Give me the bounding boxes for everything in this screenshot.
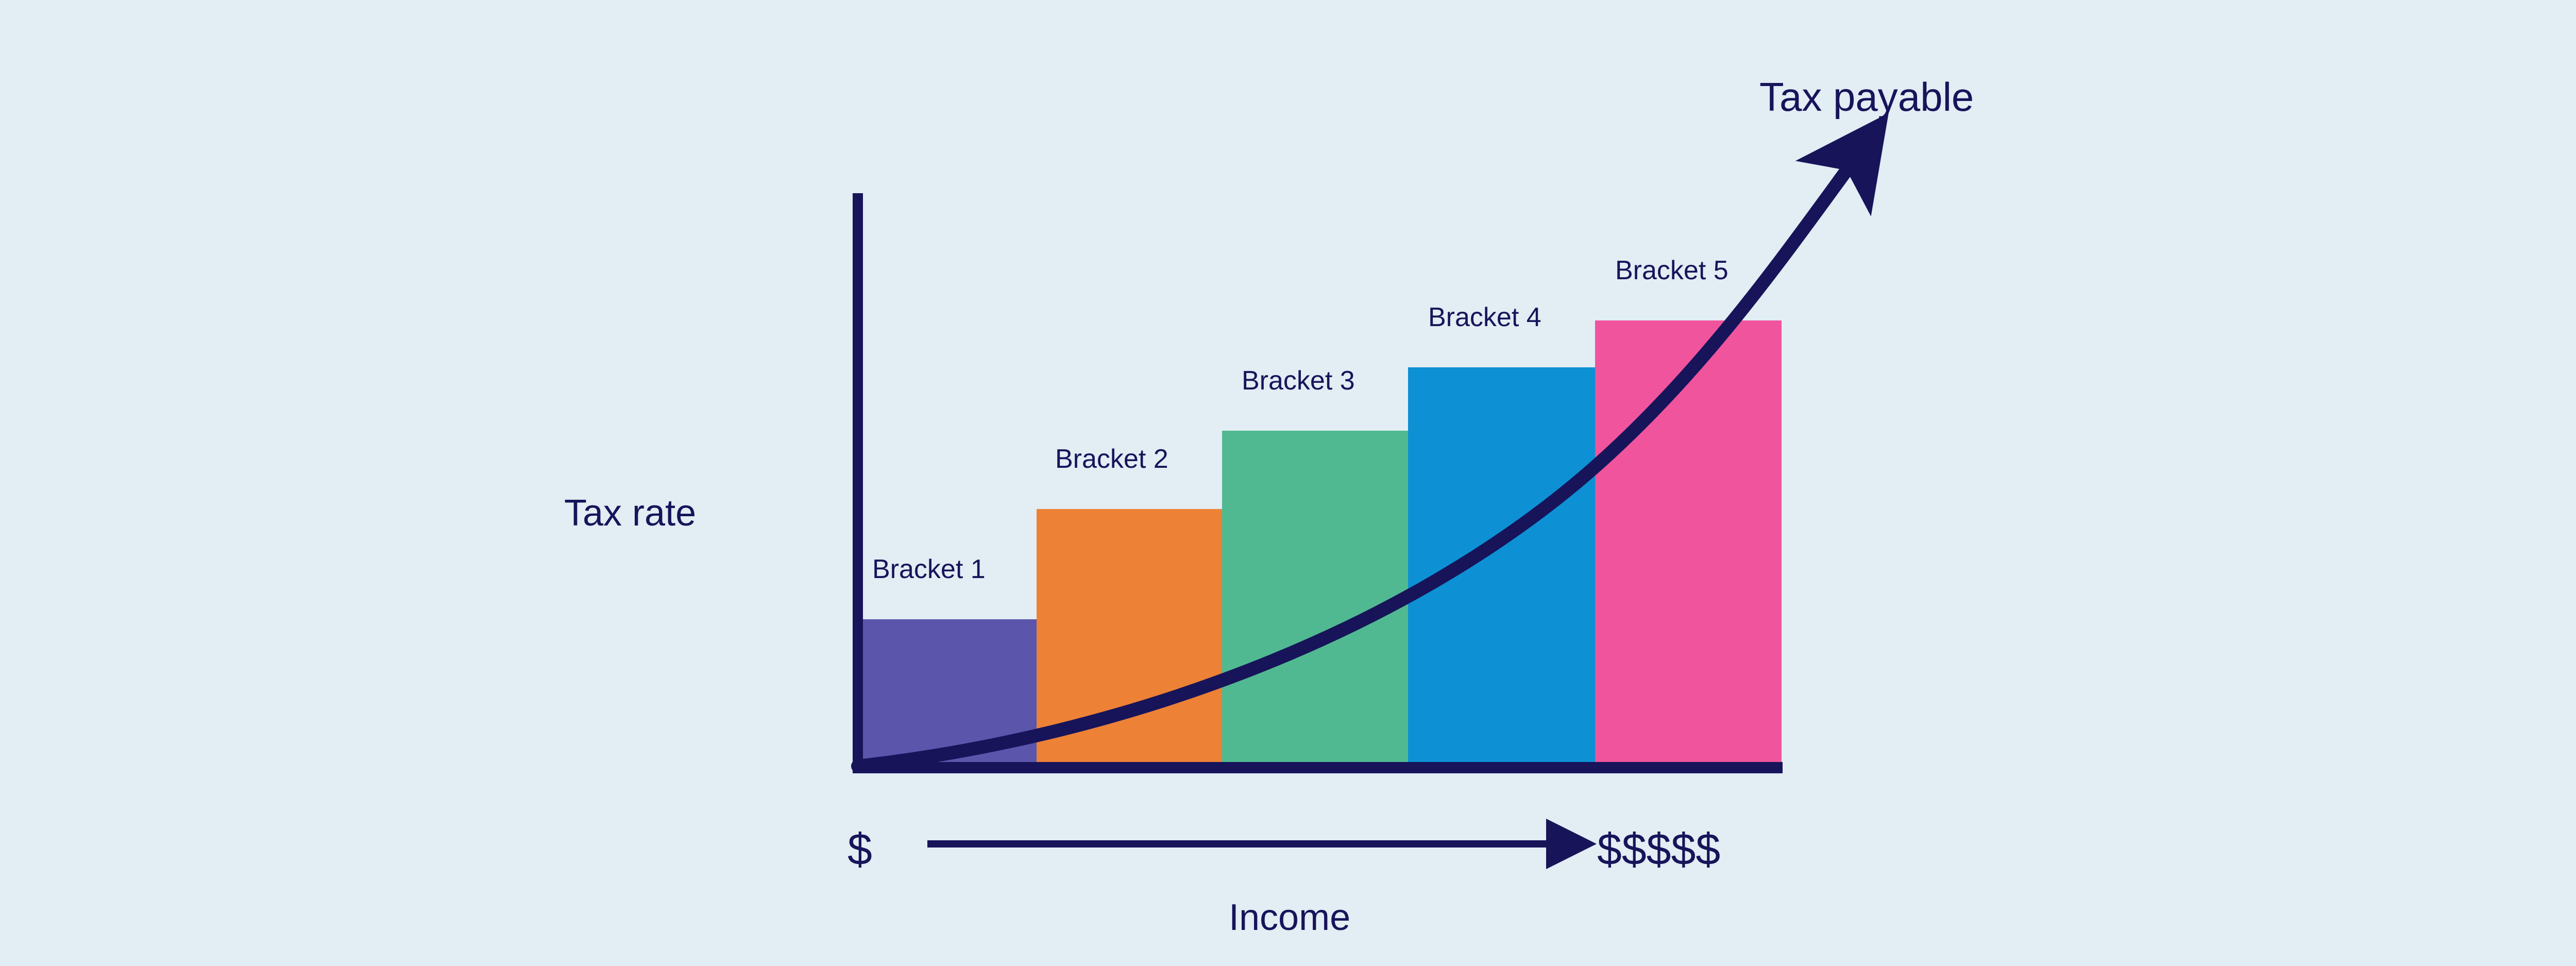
bar-bracket-4[interactable] xyxy=(1408,367,1595,768)
figure-canvas: Bracket 1 Bracket 2 Bracket 3 Bracket 4 … xyxy=(0,0,2576,966)
bracket-label-4: Bracket 4 xyxy=(1428,302,1541,332)
tax-bracket-chart: Bracket 1 Bracket 2 Bracket 3 Bracket 4 … xyxy=(0,0,2576,966)
tax-payable-label: Tax payable xyxy=(1759,74,1974,120)
income-low-label: $ xyxy=(848,825,872,874)
bar-bracket-5[interactable] xyxy=(1595,320,1782,768)
bracket-label-1: Bracket 1 xyxy=(872,554,986,584)
y-axis-title: Tax rate xyxy=(564,493,696,534)
income-high-label: $$$$$ xyxy=(1597,825,1720,874)
bar-bracket-3[interactable] xyxy=(1222,431,1408,768)
bracket-label-2: Bracket 2 xyxy=(1055,444,1168,474)
x-axis-title: Income xyxy=(1229,897,1350,938)
bracket-label-5: Bracket 5 xyxy=(1615,256,1728,285)
bracket-label-3: Bracket 3 xyxy=(1242,366,1355,396)
